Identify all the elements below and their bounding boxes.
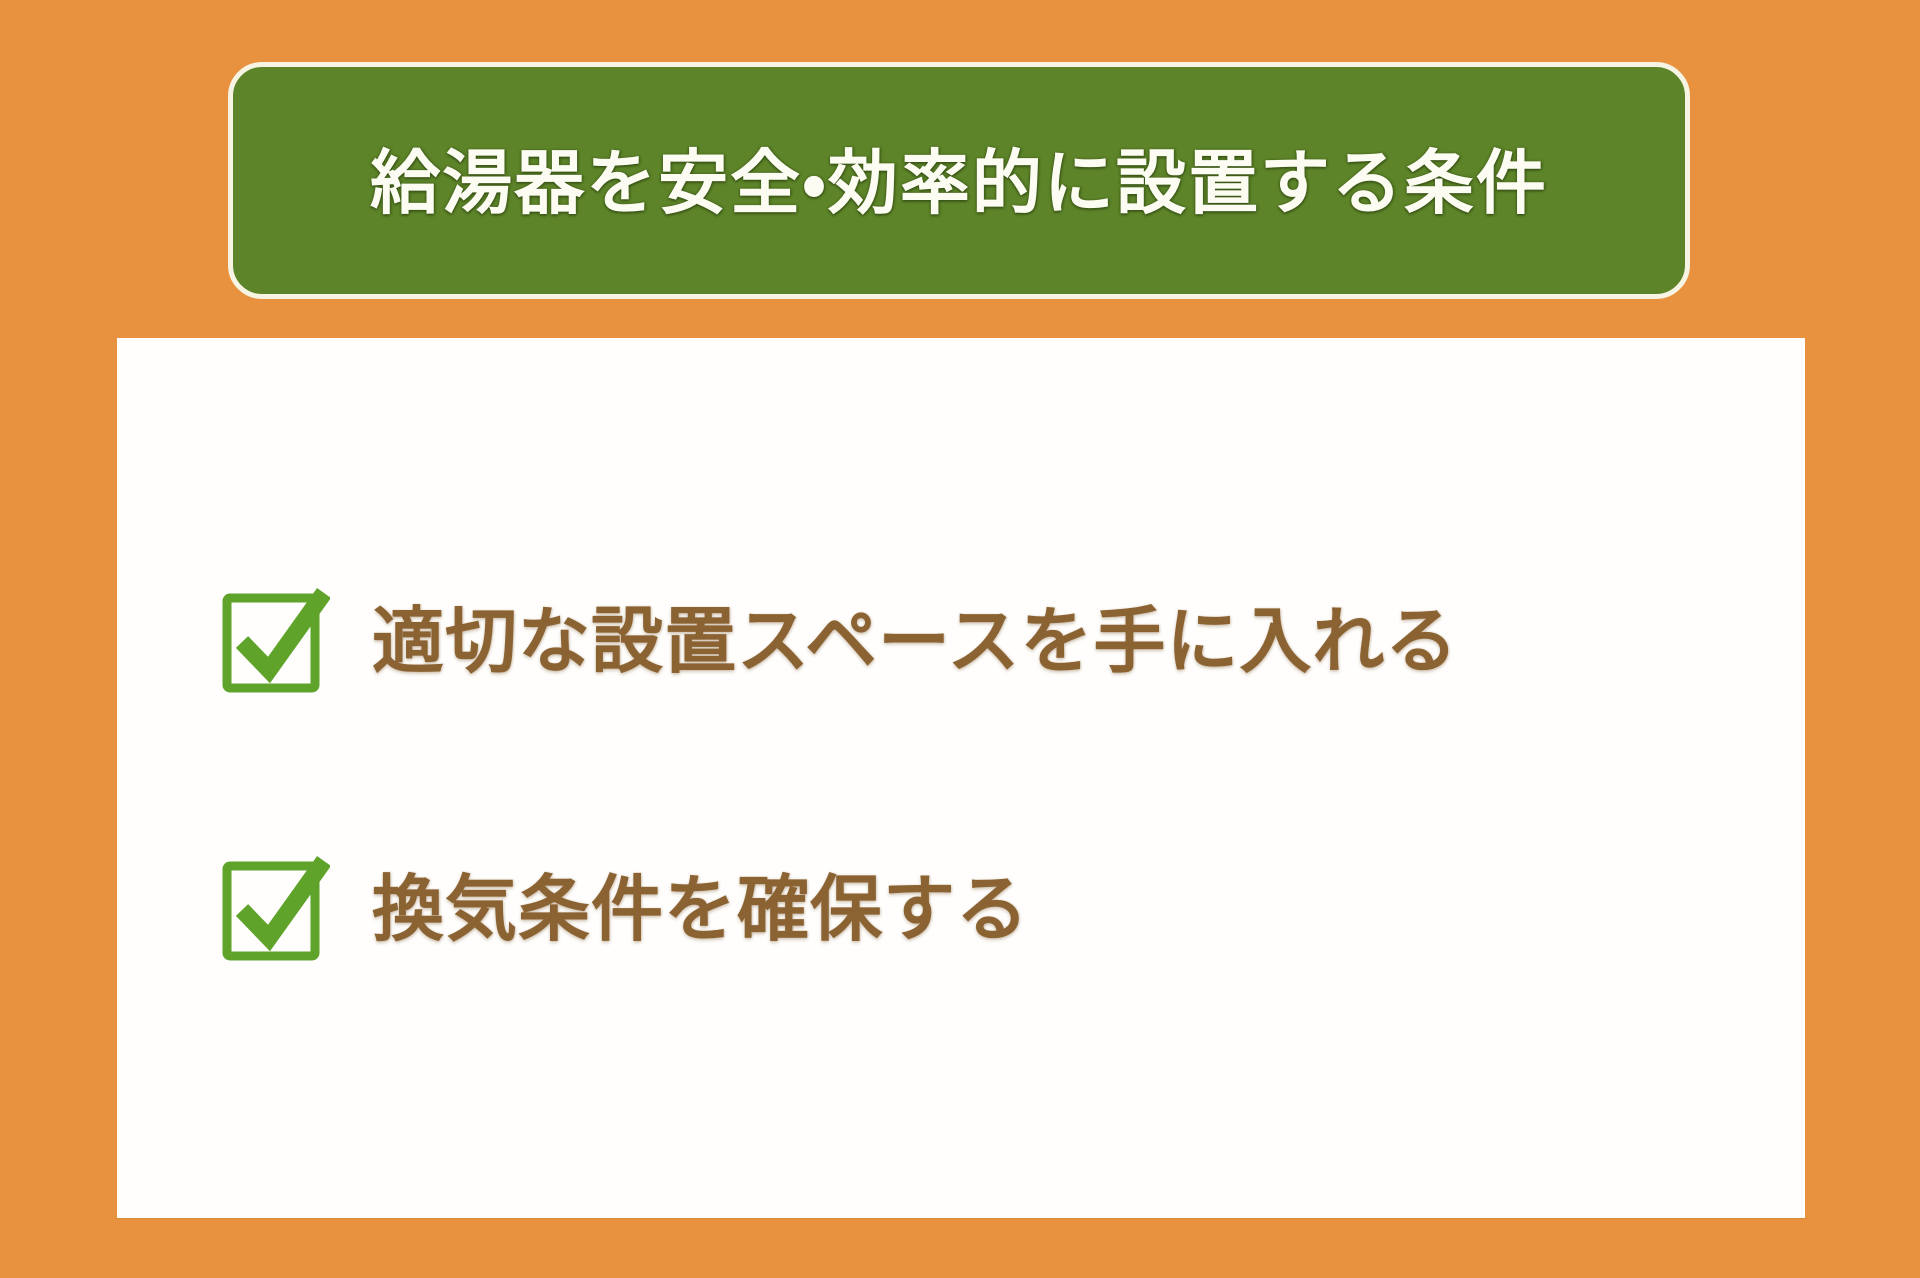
page-title: 給湯器を安全・効率的に設置する条件 — [370, 145, 1548, 222]
slide-root: 給湯器を安全・効率的に設置する条件 適切な設置スペースを手に入れる — [0, 0, 1920, 1278]
checklist: 適切な設置スペースを手に入れる 換気条件を確保する — [220, 586, 1765, 964]
content-panel: 適切な設置スペースを手に入れる 換気条件を確保する — [117, 338, 1805, 1218]
list-item-label: 換気条件を確保する — [372, 869, 1029, 950]
checkbox-checked-icon — [220, 586, 330, 696]
list-item-label: 適切な設置スペースを手に入れる — [372, 601, 1458, 682]
header-banner: 給湯器を安全・効率的に設置する条件 — [228, 62, 1690, 299]
checkbox-checked-icon — [220, 854, 330, 964]
list-item: 換気条件を確保する — [220, 854, 1765, 964]
list-item: 適切な設置スペースを手に入れる — [220, 586, 1765, 696]
